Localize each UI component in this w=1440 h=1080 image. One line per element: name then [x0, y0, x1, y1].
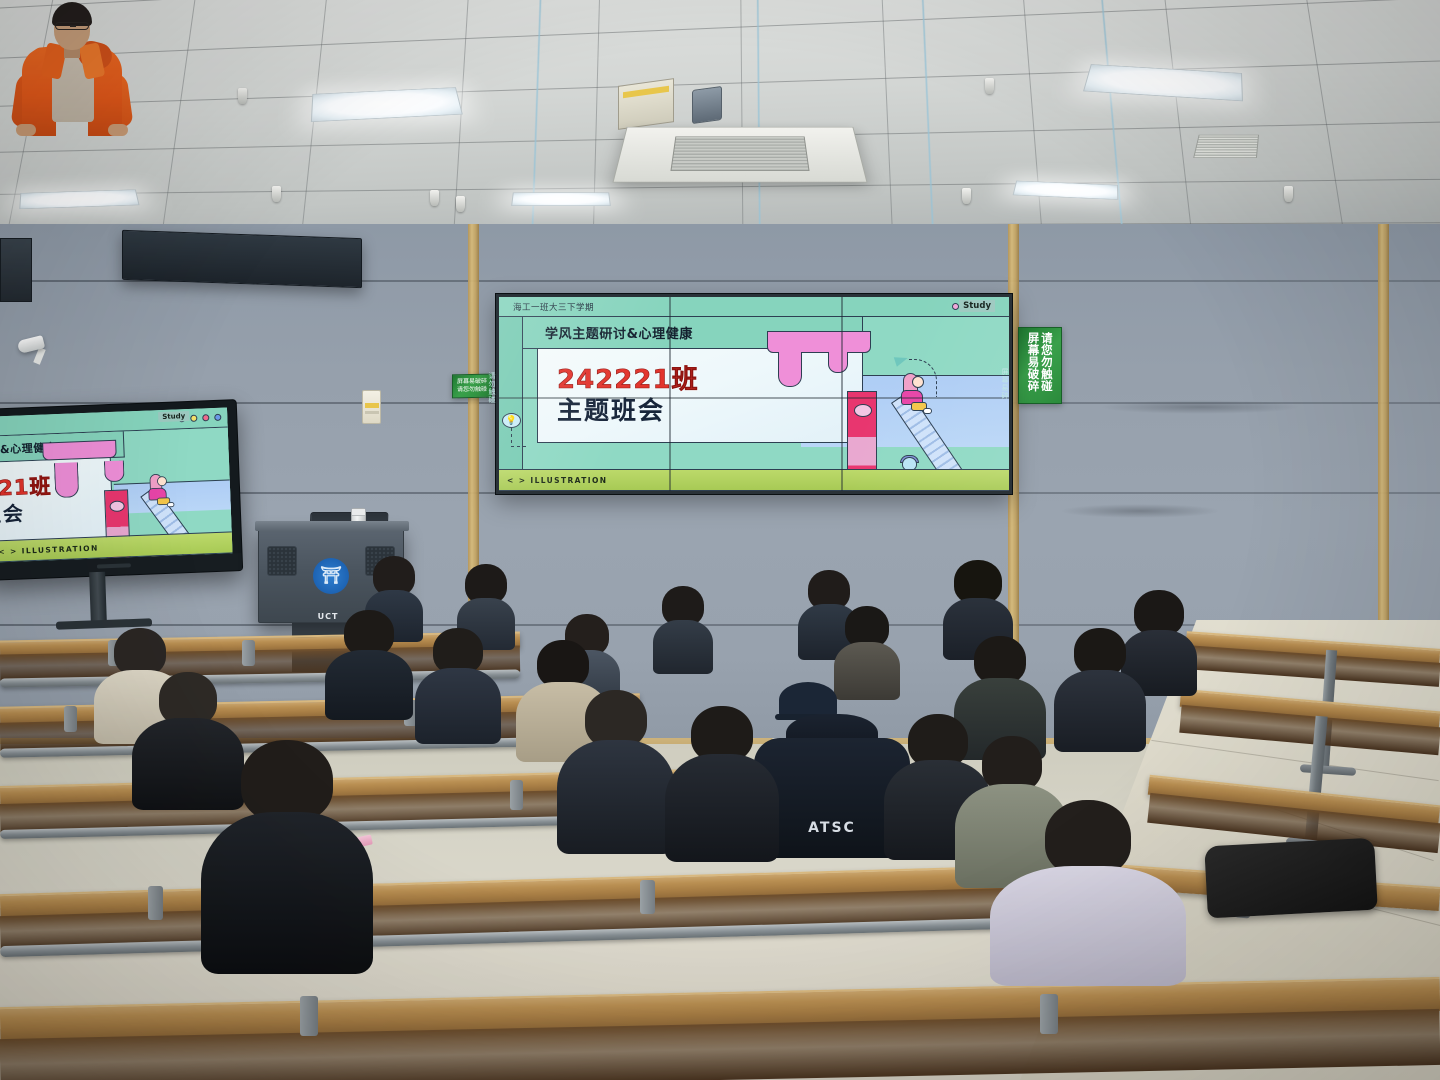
warning-line-1: 屏幕易破碎 — [457, 379, 487, 386]
wall-speaker — [122, 230, 362, 288]
sprinkler-icon — [962, 188, 971, 204]
ceiling-rail — [756, 0, 762, 236]
lightbulb-icon: 💡 — [502, 413, 521, 428]
ceiling-speaker — [692, 86, 722, 124]
paint-drip-shape — [767, 331, 871, 353]
student — [1060, 628, 1140, 746]
ceiling-rail — [920, 0, 937, 236]
student — [836, 606, 898, 698]
student-lilac-coat — [1000, 800, 1176, 980]
air-conditioner-unit — [612, 127, 867, 183]
warning-line-2: 屏幕易破碎 — [1027, 332, 1039, 399]
jacket-logo-text: UCT — [318, 612, 339, 621]
sprinkler-icon — [272, 186, 281, 202]
slide-footer-right-label: Study — [959, 300, 995, 312]
student — [564, 690, 668, 850]
classroom-photo: 请您勿触碰 屏幕易破碎 屏幕易破碎 请您勿触碰 海工一班大三下学期 💡 — [0, 0, 1440, 1080]
mon-footer-right: Study — [158, 411, 189, 422]
sprinkler-icon — [430, 190, 439, 206]
student-atsc: ATSC — [762, 738, 902, 858]
slide-body: 💡 学风主题研讨&心理健康 242221班 主题班会 — [499, 317, 1009, 469]
screen-warning-sign-left: 屏幕易破碎 请您勿触碰 — [452, 374, 492, 399]
ceiling-light — [311, 87, 463, 122]
slide-footer-nav[interactable]: < > ILLUSTRATION — [507, 476, 607, 485]
ceiling-light — [1083, 64, 1243, 101]
slide-topbar: 海工一班大三下学期 — [499, 297, 1009, 317]
screen-side-label-left: 请勿触碰 — [487, 372, 497, 404]
student — [672, 706, 772, 858]
secondary-monitor-screen: 海工一班大三下学期 学风主题研讨&心理健康 242221班 主题班会 — [0, 407, 233, 562]
university-logo: ⛩ — [313, 558, 349, 594]
screen-warning-sign-right: 请您勿触碰 屏幕易破碎 — [1018, 327, 1062, 404]
sprinkler-icon — [1284, 186, 1293, 202]
glasses-icon — [55, 22, 89, 30]
student-front-center — [212, 740, 362, 970]
lectern-speaker-left — [267, 546, 297, 576]
video-wall-display[interactable]: 海工一班大三下学期 💡 学风主题研讨&心理健康 242221 — [496, 294, 1012, 494]
ceiling-light — [19, 189, 139, 209]
lectern-top — [255, 521, 409, 531]
dot-pink — [952, 303, 959, 310]
ceiling-control-box — [618, 78, 674, 130]
wall-control-panel[interactable] — [362, 390, 381, 424]
ac-grille — [671, 136, 809, 171]
mon-footer-nav: < > ILLUSTRATION — [0, 543, 99, 556]
ceiling-vent — [1193, 135, 1259, 158]
presentation-slide: 海工一班大三下学期 💡 学风主题研讨&心理健康 242221 — [499, 297, 1009, 491]
wall-speaker-side — [0, 238, 32, 302]
student-white-text: UCT — [330, 600, 408, 712]
sprinkler-icon — [985, 78, 994, 94]
student — [420, 628, 496, 740]
sprinkler-icon — [456, 196, 465, 212]
warning-line-2: 请您勿触碰 — [457, 386, 487, 393]
backpack — [1204, 838, 1378, 919]
jacket-logo-text: ATSC — [808, 820, 856, 836]
secondary-monitor[interactable]: 海工一班大三下学期 学风主题研讨&心理健康 242221班 主题班会 — [0, 399, 243, 581]
climbing-girl-illustration — [899, 373, 929, 415]
warning-line-1: 请您勿触碰 — [1041, 332, 1053, 399]
ceiling — [0, 0, 1440, 236]
sprinkler-icon — [238, 88, 247, 104]
slide-breadcrumb: 海工一班大三下学期 — [513, 301, 594, 313]
ceiling-light — [511, 192, 611, 206]
ceiling-rail — [1098, 0, 1130, 236]
ceiling-light — [1013, 181, 1119, 200]
screen-side-label-right: 屏幕易碎 — [1000, 368, 1010, 400]
paper-plane-icon — [894, 353, 909, 367]
mon-headline-dark: 主题班会 — [0, 497, 25, 529]
student — [654, 586, 712, 672]
monitor-stand — [89, 572, 107, 625]
slide-footer-bar: < > ILLUSTRATION — [499, 469, 1009, 491]
